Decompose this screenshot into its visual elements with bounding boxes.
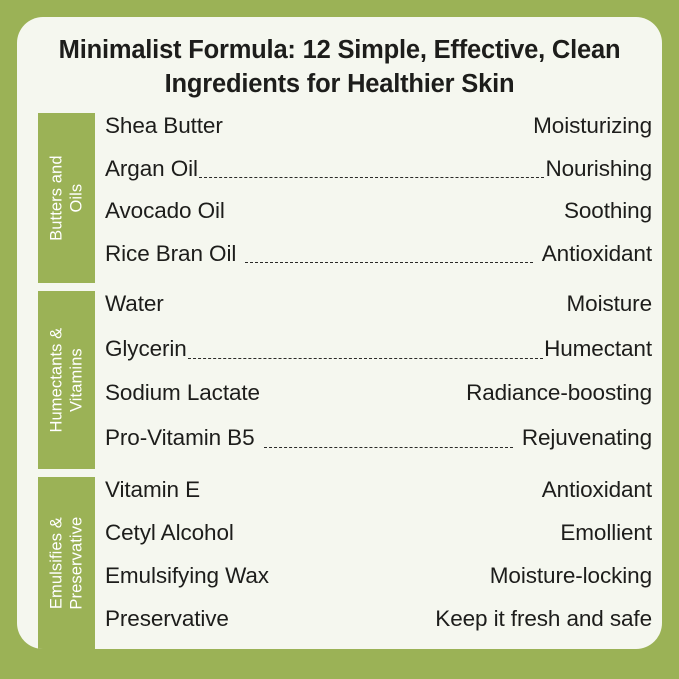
ingredient-name: Vitamin E <box>105 477 200 503</box>
category-label-line1: Butters and <box>47 156 65 242</box>
list-item: Pro-Vitamin B5 Rejuvenating <box>105 425 652 470</box>
category-label-line1: Emulsifies & <box>47 517 65 609</box>
list-item: Emulsifying Wax Moisture-locking <box>105 563 652 606</box>
ingredient-name: Cetyl Alcohol <box>105 520 234 546</box>
ingredient-name: Shea Butter <box>105 113 223 139</box>
poster-frame: Minimalist Formula: 12 Simple, Effective… <box>0 0 679 679</box>
rows-butters-and-oils: Shea Butter Moisturizing Argan Oil Nouri… <box>95 113 652 283</box>
category-label-emulsifies-and-preservative: Emulsifies & Preservative <box>46 517 86 610</box>
ingredient-benefit: Moisture <box>567 291 652 317</box>
list-item: Shea Butter Moisturizing <box>105 113 652 156</box>
category-box-humectants-and-vitamins: Humectants & Vitamins <box>38 291 95 469</box>
ingredient-benefit: Antioxidant <box>542 477 652 503</box>
list-item: Argan Oil Nourishing <box>105 156 652 199</box>
ingredient-benefit: Keep it fresh and safe <box>435 606 652 632</box>
page-title: Minimalist Formula: 12 Simple, Effective… <box>17 17 662 101</box>
ingredient-name: Argan Oil <box>105 156 198 182</box>
content-panel: Minimalist Formula: 12 Simple, Effective… <box>17 17 662 649</box>
category-label-humectants-and-vitamins: Humectants & Vitamins <box>46 328 86 433</box>
ingredient-name: Preservative <box>105 606 229 632</box>
ingredient-name: Sodium Lactate <box>105 380 260 406</box>
category-label-line1: Humectants & <box>47 328 65 433</box>
category-box-emulsifies-and-preservative: Emulsifies & Preservative <box>38 477 95 649</box>
ingredient-list: Butters and Oils Shea Butter Moisturizin… <box>17 113 662 649</box>
ingredient-benefit: Soothing <box>564 198 652 224</box>
ingredient-benefit: Humectant <box>544 336 652 362</box>
list-item: Avocado Oil Soothing <box>105 198 652 241</box>
ingredient-benefit: Antioxidant <box>542 241 652 267</box>
ingredient-name: Glycerin <box>105 336 187 362</box>
list-item: Sodium Lactate Radiance-boosting <box>105 380 652 425</box>
leader-dashes <box>209 498 539 499</box>
list-item: Glycerin Humectant <box>105 336 652 381</box>
leader-dashes <box>269 402 463 403</box>
category-label-line2: Preservative <box>67 517 87 610</box>
ingredient-benefit: Emollient <box>560 520 652 546</box>
list-item: Cetyl Alcohol Emollient <box>105 520 652 563</box>
list-item: Preservative Keep it fresh and safe <box>105 606 652 649</box>
ingredient-name: Pro-Vitamin B5 <box>105 425 255 451</box>
ingredient-name: Avocado Oil <box>105 198 225 224</box>
ingredient-group-emulsifies-and-preservative: Emulsifies & Preservative Vitamin E Anti… <box>38 477 652 649</box>
leader-dashes <box>232 134 524 135</box>
ingredient-benefit: Rejuvenating <box>522 425 652 451</box>
leader-dashes <box>278 584 481 585</box>
ingredient-benefit: Radiance-boosting <box>466 380 652 406</box>
category-label-line2: Oils <box>67 156 87 242</box>
category-label-line2: Vitamins <box>67 328 87 433</box>
ingredient-benefit: Moisture-locking <box>490 563 652 589</box>
leader-dashes <box>264 447 513 448</box>
list-item: Vitamin E Antioxidant <box>105 477 652 520</box>
rows-emulsifies-and-preservative: Vitamin E Antioxidant Cetyl Alcohol Emol… <box>95 477 652 649</box>
list-item: Rice Bran Oil Antioxidant <box>105 241 652 284</box>
ingredient-name: Water <box>105 291 164 317</box>
leader-dashes <box>245 262 533 263</box>
leader-dashes <box>234 219 555 220</box>
leader-dashes <box>243 541 558 542</box>
category-label-butters-and-oils: Butters and Oils <box>46 156 86 242</box>
rows-humectants-and-vitamins: Water Moisture Glycerin Humectant Sodium… <box>95 291 652 469</box>
ingredient-benefit: Nourishing <box>545 156 652 182</box>
ingredient-name: Emulsifying Wax <box>105 563 269 589</box>
ingredient-group-humectants-and-vitamins: Humectants & Vitamins Water Moisture Gly… <box>38 291 652 469</box>
leader-dashes <box>199 177 545 178</box>
leader-dashes <box>173 313 558 314</box>
list-item: Water Moisture <box>105 291 652 336</box>
category-box-butters-and-oils: Butters and Oils <box>38 113 95 283</box>
leader-dashes <box>188 358 543 359</box>
leader-dashes <box>238 627 426 628</box>
ingredient-name: Rice Bran Oil <box>105 241 236 267</box>
ingredient-benefit: Moisturizing <box>533 113 652 139</box>
ingredient-group-butters-and-oils: Butters and Oils Shea Butter Moisturizin… <box>38 113 652 283</box>
